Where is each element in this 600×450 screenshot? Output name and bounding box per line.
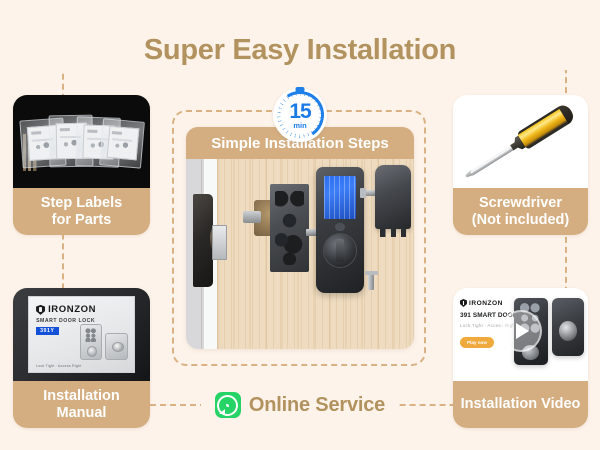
lock-deadbolt-illustration xyxy=(105,333,128,359)
whatsapp-icon[interactable] xyxy=(215,392,241,418)
card-step-labels[interactable]: Step Labels for Parts xyxy=(13,95,150,235)
15-min-timer-badge: 15 min xyxy=(273,88,327,142)
video-thumbnail[interactable]: IRONZON 391 SMART DOOR LOCK Lock Tight ·… xyxy=(453,288,588,381)
phone-handset-glyph xyxy=(224,401,232,409)
online-service-group[interactable]: Online Service xyxy=(201,390,399,420)
card-caption: Step Labels for Parts xyxy=(13,188,150,235)
video-thumbnail-background: IRONZON 391 SMART DOOR LOCK Lock Tight ·… xyxy=(453,288,588,381)
infographic-root: Super Easy Installation Step Labels for … xyxy=(0,0,600,450)
play-icon[interactable] xyxy=(500,310,542,352)
door-frame-strike xyxy=(193,194,214,287)
caption-line-2: (Not included) xyxy=(472,212,569,229)
parts-bag xyxy=(99,118,145,168)
screwdriver-handle xyxy=(516,102,576,150)
badge-unit: min xyxy=(273,121,327,130)
manual-cover: IRONZON SMART DOOR LOCK 391Y Lock Tight … xyxy=(28,296,135,372)
online-service-row[interactable]: Online Service xyxy=(0,390,600,420)
stopwatch-stem-icon xyxy=(296,87,305,92)
keypad-panel xyxy=(324,176,357,219)
manual-photo-background: IRONZON SMART DOOR LOCK 391Y Lock Tight … xyxy=(13,288,150,381)
manual-brand-name: IRONZON xyxy=(48,304,96,315)
screwdriver-photo-background xyxy=(453,95,588,188)
play-now-button[interactable]: Play now xyxy=(460,337,494,348)
page-title: Super Easy Installation xyxy=(0,32,600,70)
manual-footer-text: Lock Tight · Access Right xyxy=(36,364,81,368)
manual-cover-illustration xyxy=(80,324,128,360)
step-labels-photo xyxy=(13,95,150,188)
lock-indicator xyxy=(335,223,345,232)
caption-line-1: Screwdriver xyxy=(479,195,562,212)
card-caption: Screwdriver (Not included) xyxy=(453,188,588,235)
manual-photo: IRONZON SMART DOOR LOCK 391Y Lock Tight … xyxy=(13,288,150,381)
bags-photo-background xyxy=(13,95,150,188)
page-title-text: Super Easy Installation xyxy=(132,34,468,67)
latch-plate xyxy=(212,225,227,261)
smart-lock-back-cover xyxy=(375,165,410,229)
shield-icon xyxy=(36,305,45,315)
video-brand-name: IRONZON xyxy=(469,300,503,307)
mounting-screw xyxy=(368,274,374,291)
center-installation-panel[interactable]: Simple Installation Steps xyxy=(186,127,414,349)
lock-deadbolt-photo xyxy=(552,298,584,356)
shield-icon xyxy=(460,299,467,307)
manual-model-badge: 391Y xyxy=(36,327,59,335)
lock-keypad-illustration xyxy=(80,324,103,360)
screwdriver-icon xyxy=(465,102,576,181)
caption-line-1: Step Labels xyxy=(41,195,122,212)
mounting-plate xyxy=(270,184,309,273)
installation-photo xyxy=(186,127,414,349)
thumbturn-knob xyxy=(323,233,357,268)
manual-brand-row: IRONZON xyxy=(36,304,128,315)
online-service-label: Online Service xyxy=(249,394,385,417)
caption-line-2: for Parts xyxy=(52,212,112,229)
smart-lock-front-body xyxy=(316,167,364,294)
screwdriver-shaft xyxy=(469,143,516,175)
screwdriver-photo xyxy=(453,95,588,188)
card-screwdriver[interactable]: Screwdriver (Not included) xyxy=(453,95,588,235)
